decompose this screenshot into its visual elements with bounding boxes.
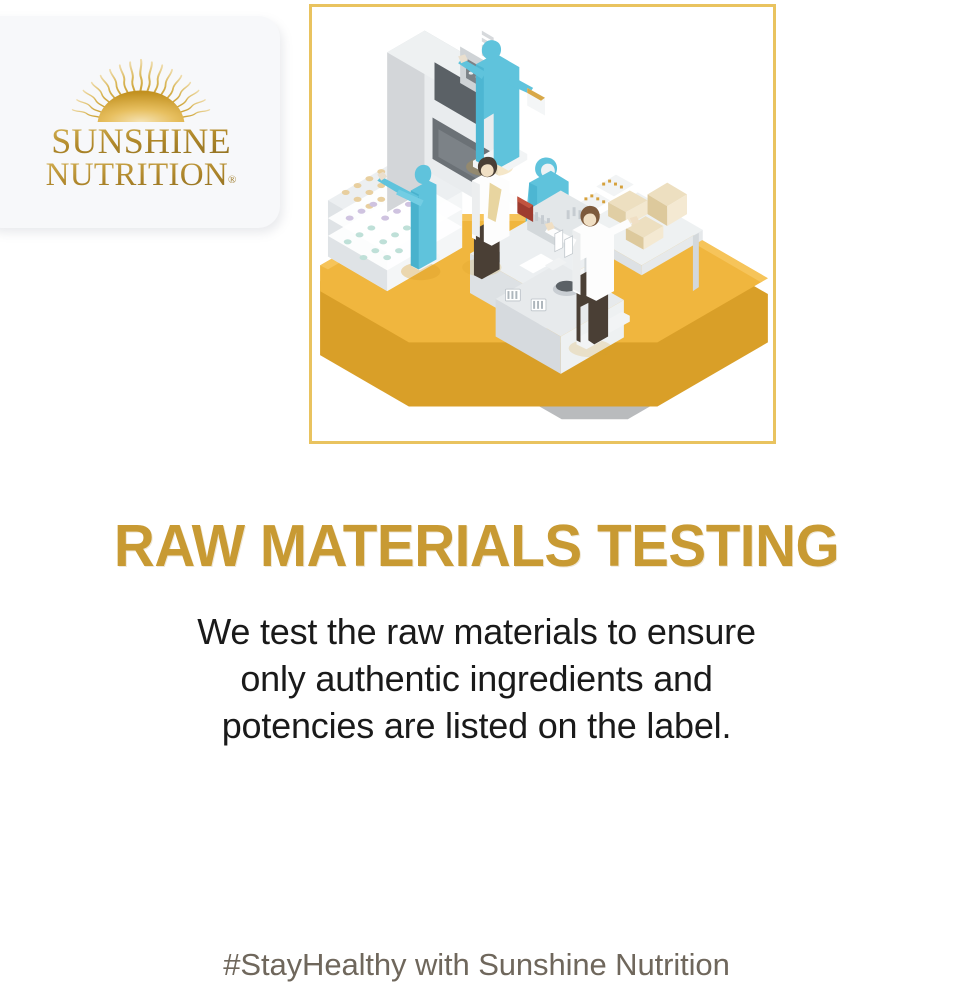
footer-tagline: #StayHealthy with Sunshine Nutrition: [0, 946, 953, 984]
trademark-symbol: ®: [228, 174, 236, 186]
logo-wordmark-line2: NUTRITION®: [46, 159, 237, 193]
brand-logo: SUNSHINE NUTRITION®: [0, 16, 280, 228]
page-title: RAW MATERIALS TESTING: [19, 517, 934, 576]
description-line-2: only authentic ingredients and: [0, 655, 953, 702]
description-text: We test the raw materials to ensure only…: [0, 608, 953, 749]
illustration-frame: [309, 4, 776, 444]
product-feature-card: SUNSHINE NUTRITION®: [0, 0, 953, 996]
description-line-3: potencies are listed on the label.: [0, 702, 953, 749]
description-line-1: We test the raw materials to ensure: [0, 608, 953, 655]
logo-wordmark-line1: SUNSHINE: [51, 124, 231, 159]
sunburst-icon: [55, 51, 227, 123]
raw-materials-testing-lab-illustration: [312, 7, 773, 441]
brand-logo-card: SUNSHINE NUTRITION®: [0, 16, 280, 228]
